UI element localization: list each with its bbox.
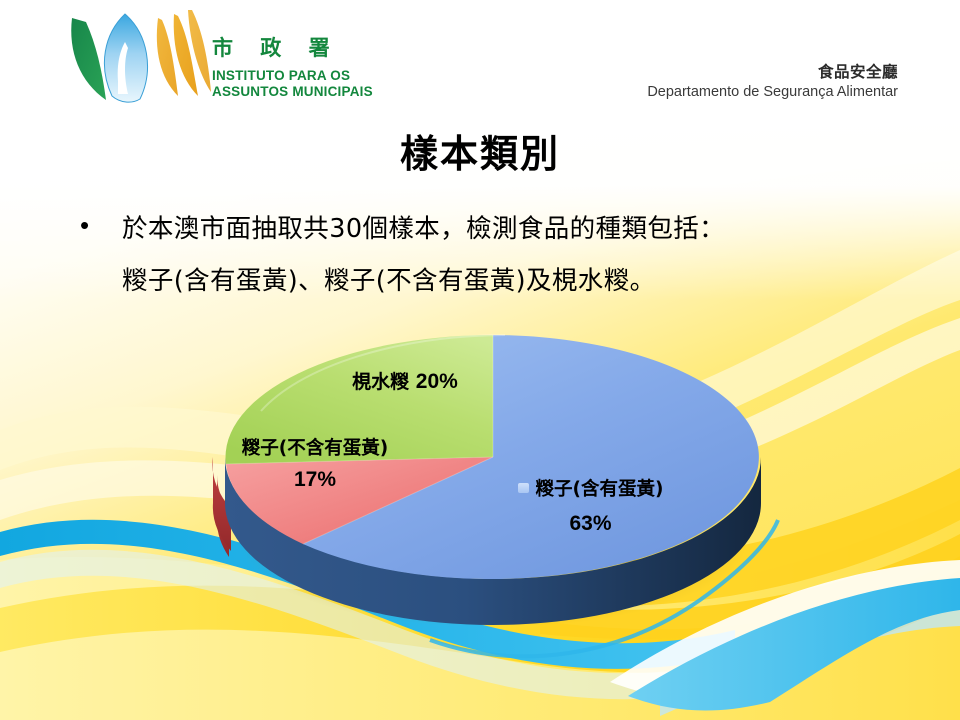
logo-wordmark: 市 政 署 INSTITUTO PARA OS ASSUNTOS MUNICIP… — [212, 32, 373, 100]
pie-label-blue-row: 糉子(含有蛋黃) — [483, 473, 698, 507]
slide-title: 樣本類別 — [0, 123, 960, 178]
pie-label-blue-pct: 63% — [483, 507, 698, 541]
pie-label-blue-name: 糉子(含有蛋黃) — [536, 479, 664, 500]
bullet-line-2: 糉子(含有蛋黃)、糉子(不含有蛋黃)及梘水糉。 — [122, 255, 900, 307]
pie-label-green-pct: 20% — [416, 370, 458, 393]
slide-canvas: 市 政 署 INSTITUTO PARA OS ASSUNTOS MUNICIP… — [0, 0, 960, 720]
imm-logo: 市 政 署 INSTITUTO PARA OS ASSUNTOS MUNICIP… — [62, 4, 372, 108]
imm-leaf-flame-icon — [62, 4, 212, 108]
pie-label-red-pct: 17% — [210, 464, 420, 495]
department-block: 食品安全廳 Departamento de Segurança Alimenta… — [647, 63, 898, 102]
bullet-marker: • — [70, 203, 122, 247]
pie-label-green: 梘水糉 20% — [310, 367, 500, 394]
bullet-item: • 於本澳市面抽取共30個樣本，檢測食品的種類包括： 糉子(含有蛋黃)、糉子(不… — [70, 203, 900, 307]
logo-name-pt-line1: INSTITUTO PARA OS — [212, 68, 373, 84]
pie-chart: 梘水糉 20% 糉子(不含有蛋黃) 17% 糉子(含有蛋黃) 63% — [205, 325, 765, 625]
pie-label-green-name: 梘水糉 — [352, 371, 409, 393]
slide-body: • 於本澳市面抽取共30個樣本，檢測食品的種類包括： 糉子(含有蛋黃)、糉子(不… — [70, 203, 900, 307]
slide-header: 市 政 署 INSTITUTO PARA OS ASSUNTOS MUNICIP… — [0, 0, 960, 112]
series-marker-icon — [518, 483, 529, 493]
bullet-line-1: 於本澳市面抽取共30個樣本，檢測食品的種類包括： — [122, 203, 900, 255]
department-name-cn: 食品安全廳 — [647, 63, 898, 82]
department-name-pt: Departamento de Segurança Alimentar — [647, 83, 898, 102]
bullet-text: 於本澳市面抽取共30個樣本，檢測食品的種類包括： 糉子(含有蛋黃)、糉子(不含有… — [122, 203, 900, 307]
logo-name-pt-line2: ASSUNTOS MUNICIPAIS — [212, 84, 373, 100]
pie-label-blue: 糉子(含有蛋黃) 63% — [483, 473, 698, 541]
pie-label-red-name: 糉子(不含有蛋黃) — [210, 433, 420, 464]
logo-name-cn: 市 政 署 — [212, 32, 373, 62]
pie-label-red: 糉子(不含有蛋黃) 17% — [210, 433, 420, 495]
